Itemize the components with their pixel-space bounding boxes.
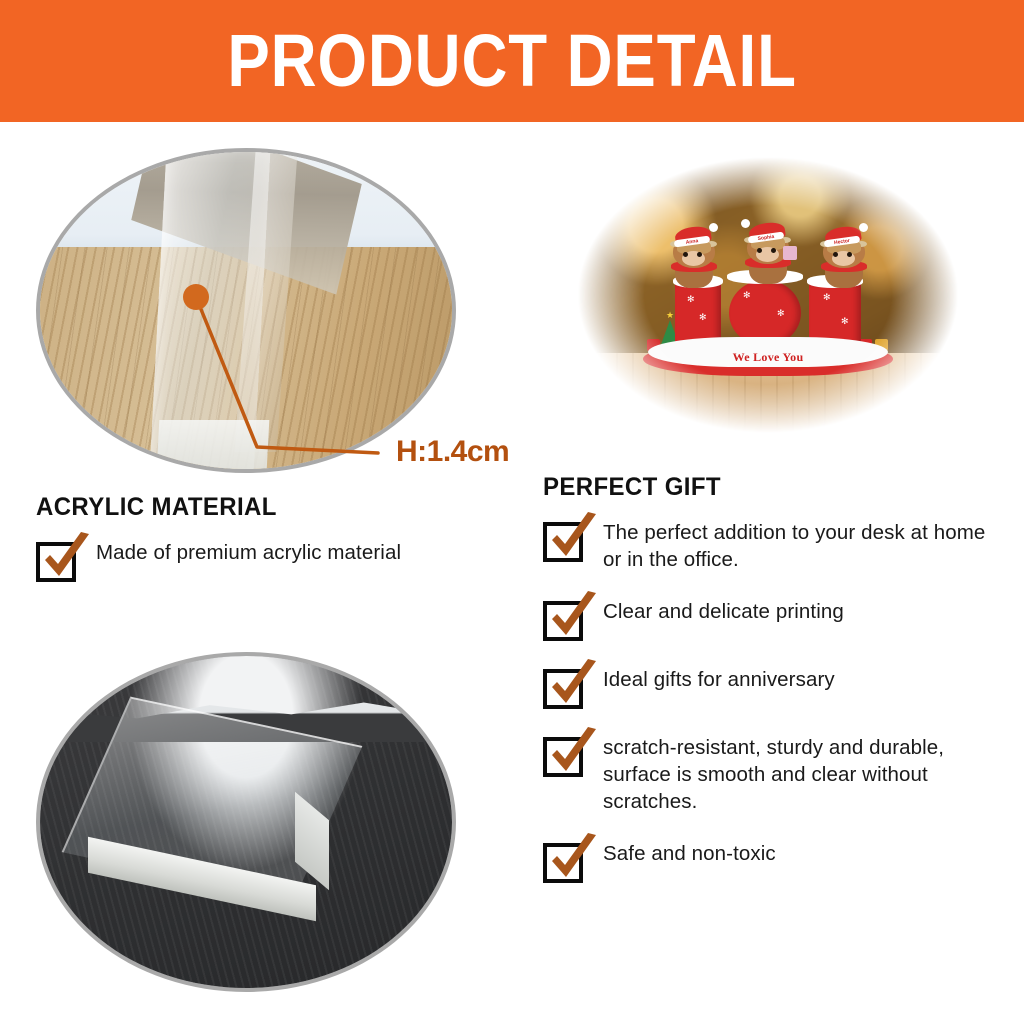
page-header-banner: PRODUCT DETAIL: [0, 0, 1024, 122]
cow-eye: [683, 252, 688, 257]
checkbox-checked-icon: [543, 601, 583, 641]
bullet-item: scratch-resistant, sturdy and durable, s…: [543, 735, 1008, 815]
snowflake-icon: ✻: [687, 295, 695, 304]
cow-eye: [771, 248, 776, 253]
cow-figure-sophia: Sophia: [743, 226, 793, 284]
bullet-text: Ideal gifts for anniversary: [603, 667, 835, 694]
section-acrylic-material: ACRYLIC MATERIAL Made of premium acrylic…: [36, 493, 516, 606]
gift-box-icon: [783, 246, 797, 260]
checkmark-icon: [546, 512, 602, 564]
checkmark-icon: [39, 532, 95, 584]
bullet-item: Clear and delicate printing: [543, 599, 1008, 641]
bullet-text: Safe and non-toxic: [603, 841, 776, 868]
snowflake-icon: ✻: [841, 317, 849, 326]
bullet-text: Made of premium acrylic material: [96, 540, 401, 567]
santa-hat-pom: [741, 219, 750, 228]
bullet-text: The perfect addition to your desk at hom…: [603, 520, 1003, 573]
checkmark-icon: [546, 727, 602, 779]
bullet-item: Made of premium acrylic material: [36, 540, 516, 582]
santa-hat-pom: [859, 223, 868, 232]
acrylic-bottom-edge: [157, 420, 270, 470]
section-perfect-gift: PERFECT GIFT The perfect addition to you…: [543, 473, 1008, 909]
checkbox-checked-icon: [543, 737, 583, 777]
cow-eye: [833, 252, 838, 257]
section-title-gift: PERFECT GIFT: [543, 473, 989, 502]
base-inscription: We Love You: [643, 350, 893, 365]
cow-eye: [847, 252, 852, 257]
bullet-item: Ideal gifts for anniversary: [543, 667, 1008, 709]
bullet-item: The perfect addition to your desk at hom…: [543, 520, 1008, 573]
callout-height-label: H:1.4cm: [396, 435, 509, 469]
bullet-item: Safe and non-toxic: [543, 841, 1008, 883]
checkbox-checked-icon: [543, 843, 583, 883]
checkbox-checked-icon: [543, 669, 583, 709]
cow-figure-hector: Hector: [819, 230, 869, 288]
checkbox-checked-icon: [36, 542, 76, 582]
snowflake-icon: ✻: [823, 293, 831, 302]
photo-acrylic-edge: [36, 148, 456, 473]
photo-acrylic-block: [36, 652, 456, 992]
cow-eye: [757, 248, 762, 253]
bullet-text: scratch-resistant, sturdy and durable, s…: [603, 735, 1003, 815]
photo-product-figurine: ★ ★ ★ ✻ ✻ ✻ ✻ ✻ ✻: [568, 150, 968, 440]
bullet-text: Clear and delicate printing: [603, 599, 844, 626]
checkmark-icon: [546, 833, 602, 885]
checkmark-icon: [546, 659, 602, 711]
cow-figure-anna: Anna: [669, 230, 719, 288]
checkmark-icon: [546, 591, 602, 643]
section-title-acrylic: ACRYLIC MATERIAL: [36, 493, 497, 522]
mom-figurine: ★ ★ ★ ✻ ✻ ✻ ✻ ✻ ✻: [643, 211, 893, 376]
snowflake-icon: ✻: [743, 291, 751, 300]
tree-star-icon: ★: [666, 310, 674, 321]
snowflake-icon: ✻: [699, 313, 707, 322]
checkbox-checked-icon: [543, 522, 583, 562]
snowflake-icon: ✻: [777, 309, 785, 318]
page-title: PRODUCT DETAIL: [227, 24, 796, 98]
santa-hat-pom: [709, 223, 718, 232]
cow-eye: [697, 252, 702, 257]
